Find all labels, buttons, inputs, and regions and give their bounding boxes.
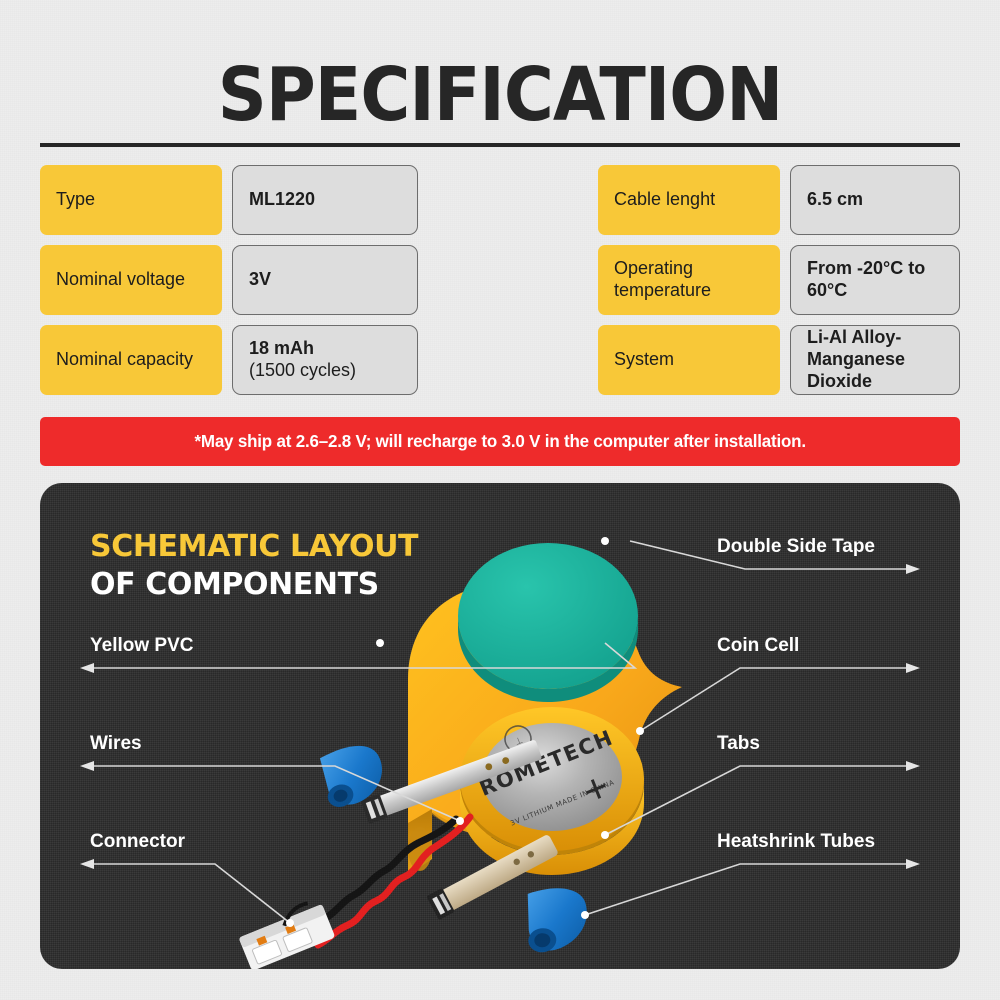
schematic-panel: SCHEMATIC LAYOUT OF COMPONENTS: [40, 483, 960, 969]
callout-heatshrink-tubes: Heatshrink Tubes: [717, 831, 875, 853]
spec-label-type: Type: [40, 165, 222, 235]
spec-value-system: Li-Al Alloy-Manganese Dioxide: [790, 325, 960, 395]
shipping-voltage-notice: *May ship at 2.6–2.8 V; will recharge to…: [40, 417, 960, 466]
title-divider: [40, 143, 960, 147]
spec-label-nominal-voltage: Nominal voltage: [40, 245, 222, 315]
spec-value-operating-temperature: From -20°C to 60°C: [790, 245, 960, 315]
spec-value-nominal-capacity: 18 mAh (1500 cycles): [232, 325, 418, 395]
column-gap: [418, 165, 598, 235]
column-gap: [418, 245, 598, 315]
spec-label-system: System: [598, 325, 780, 395]
specification-infographic: SPECIFICATION Type ML1220 Cable lenght 6…: [0, 0, 1000, 1000]
spec-value-cable-length: 6.5 cm: [790, 165, 960, 235]
callout-connector: Connector: [90, 831, 185, 853]
specification-table: Type ML1220 Cable lenght 6.5 cm Nominal …: [40, 165, 960, 395]
spec-value-type: ML1220: [232, 165, 418, 235]
callout-double-side-tape: Double Side Tape: [717, 536, 875, 558]
spec-value-nominal-voltage: 3V: [232, 245, 418, 315]
column-gap: [418, 325, 598, 395]
callout-wires: Wires: [90, 733, 142, 755]
callout-yellow-pvc: Yellow PVC: [90, 635, 193, 657]
callout-coin-cell: Coin Cell: [717, 635, 799, 657]
callout-tabs: Tabs: [717, 733, 760, 755]
spec-label-nominal-capacity: Nominal capacity: [40, 325, 222, 395]
spec-label-operating-temperature: Operating temperature: [598, 245, 780, 315]
spec-label-cable-length: Cable lenght: [598, 165, 780, 235]
page-title: SPECIFICATION: [40, 52, 960, 138]
